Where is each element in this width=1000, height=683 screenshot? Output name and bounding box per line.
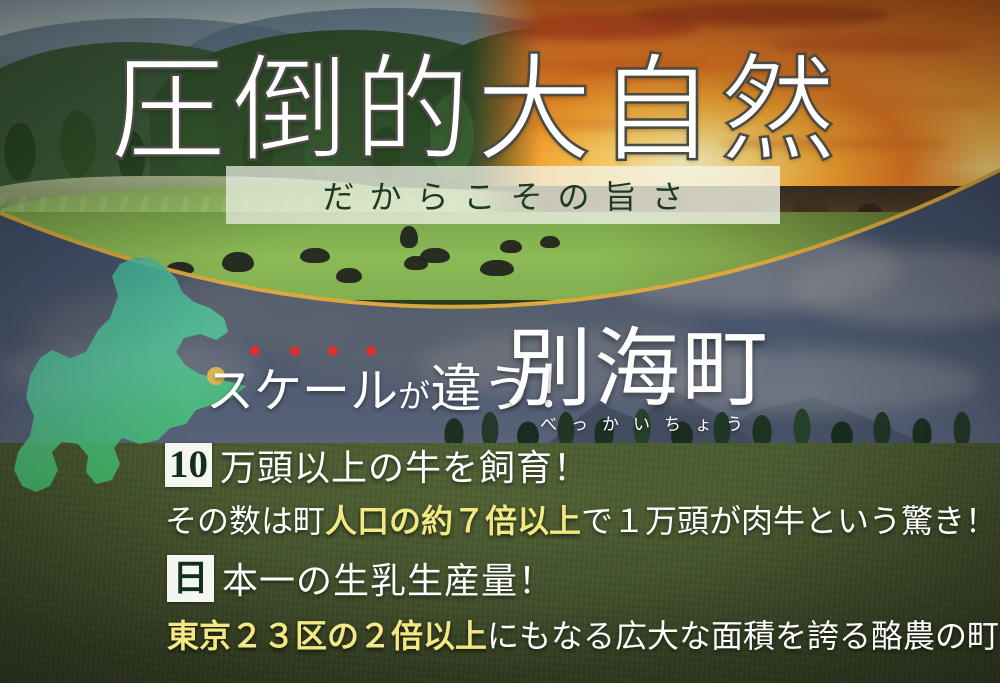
fact-detail-pre: その数は町	[165, 503, 325, 539]
fact-detail: 東京２３区の２倍以上にもなる広大な面積を誇る酪農の町！	[167, 611, 1000, 657]
fact-badge: 日	[167, 555, 214, 602]
catchphrase-ga: が	[398, 378, 430, 414]
town-furigana: べっかいちょう	[540, 410, 757, 435]
fact-block-milk: 日 本一の生乳生産量！ 東京２３区の２倍以上にもなる広大な面積を誇る酪農の町！	[167, 553, 1000, 657]
fact-detail-highlight: 人口の約７倍以上	[325, 503, 581, 539]
fact-headline: 本一の生乳生産量！	[222, 552, 555, 604]
town-name: 別海町	[506, 326, 770, 412]
fact-detail-post: で１万頭が肉牛という驚き！	[581, 503, 997, 539]
fact-detail: その数は町人口の約７倍以上で１万頭が肉牛という驚き！	[165, 496, 997, 542]
page-title: 圧倒的大自然	[110, 52, 910, 172]
fact-headline: 万頭以上の牛を飼育！	[220, 439, 590, 491]
fact-badge: 10	[165, 443, 212, 487]
betsukai-promo-banner: 圧倒的大自然 だからこその旨さ スケールが違う！ 別海町 べっかいちょう 10 …	[0, 0, 1000, 683]
catchphrase-scale: スケール	[206, 365, 398, 418]
subtitle-text: だからこその旨さ	[226, 168, 780, 222]
fact-block-cattle: 10 万頭以上の牛を飼育！ その数は町人口の約７倍以上で１万頭が肉牛という驚き！	[165, 440, 997, 542]
fact-detail-post: にもなる広大な面積を誇る酪農の町！	[487, 618, 1000, 654]
fact-detail-highlight: 東京２３区の２倍以上	[167, 618, 487, 654]
